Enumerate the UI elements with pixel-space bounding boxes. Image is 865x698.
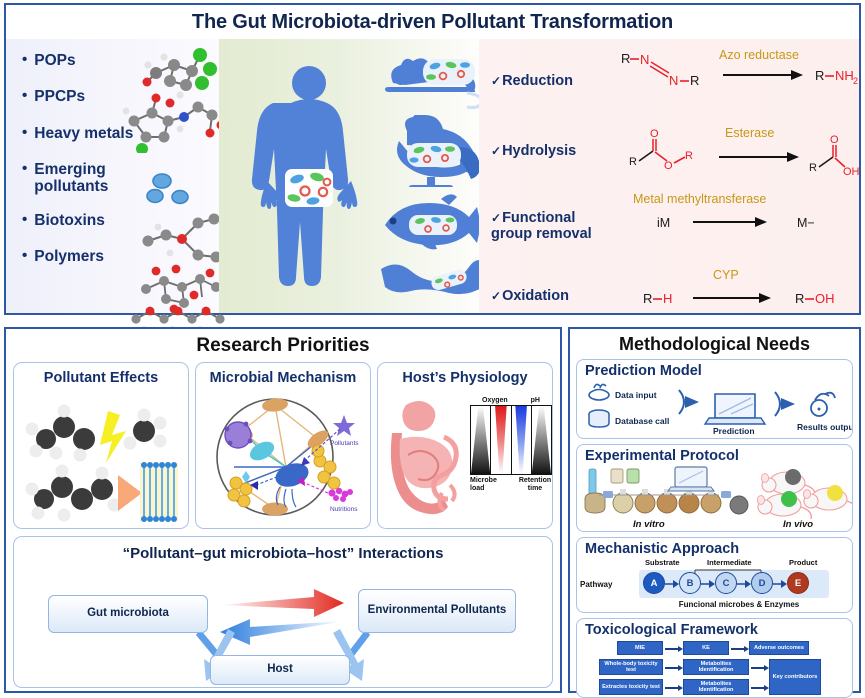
methodological-needs-title: Methodological Needs — [570, 329, 859, 359]
gradient-bar-microbe-load — [471, 406, 490, 474]
gradient-label-ph: pH — [531, 397, 540, 404]
svg-text:Metal methyltransferase: Metal methyltransferase — [633, 192, 766, 206]
card-title: Mechanistic Approach — [577, 538, 852, 557]
research-priorities-cards: Pollutant Effects — [6, 362, 560, 529]
card-toxicological-framework: Toxicological Framework MIE KE Adverse o… — [576, 618, 853, 698]
label-in-vivo: In vivo — [783, 519, 813, 530]
mouse-silhouette — [379, 47, 489, 109]
svg-text:N: N — [669, 73, 678, 88]
tox-box-ke: KE — [683, 641, 729, 655]
reaction-art: Metal methyltransferase iM M− — [615, 187, 859, 265]
svg-text:iM: iM — [657, 216, 670, 230]
label-in-vitro: In vitro — [633, 519, 665, 530]
svg-text:M−: M− — [797, 216, 815, 230]
svg-text:O: O — [830, 134, 839, 146]
reaction-label: ✓Reduction — [491, 73, 619, 89]
bullet-icon: • — [22, 88, 27, 104]
gradient-label-retention-time: Retention time — [518, 477, 552, 493]
card-prediction-model: Prediction Model Data input Database cal… — [576, 359, 853, 439]
tox-box-metabolites-identification-1: Metabolites Identification — [683, 659, 749, 675]
toxicology-flowchart: MIE KE Adverse outcomes Whole-body toxic… — [577, 641, 852, 698]
bullet-icon: • — [22, 52, 27, 68]
card-title: Host’s Physiology — [378, 363, 552, 386]
molecule-damage-membrane-icon — [22, 393, 187, 525]
svg-text:2: 2 — [853, 76, 858, 86]
card-title: Pollutant Effects — [14, 363, 188, 386]
svg-text:NH: NH — [835, 68, 854, 83]
microbe-network-icon: Pollutants Nutritions — [200, 389, 371, 527]
gradient-bar-ph — [512, 406, 531, 474]
check-icon: ✓ — [491, 74, 501, 88]
tox-box-metabolites-identification-2: Metabolites Identification — [683, 679, 749, 695]
pathway-connectors — [639, 566, 839, 600]
metal-ions-icon — [146, 173, 202, 205]
reaction-band: ✓Reduction R N N R — [479, 39, 859, 313]
research-priorities-title: Research Priorities — [6, 329, 560, 362]
host-band — [219, 39, 479, 313]
pathway-node-c: C — [715, 572, 737, 594]
chicken-silhouette — [377, 115, 487, 187]
physiology-gradient-chart: Oxygen pH Microbe load Retent — [470, 397, 552, 493]
gut-anatomy-icon — [384, 393, 474, 521]
pathway-node-b: B — [679, 572, 701, 594]
gradient-label-oxygen: Oxygen — [482, 397, 508, 404]
pollutant-label: POPs — [34, 52, 75, 69]
check-icon: ✓ — [491, 211, 501, 225]
pollutant-label: Polymers — [34, 248, 104, 265]
step-label-database-call: Database call — [615, 416, 669, 426]
research-priorities-panel: Research Priorities Pollutant Effects — [4, 327, 562, 693]
node-host: Host — [210, 655, 350, 685]
tox-box-adverse-outcomes: Adverse outcomes — [749, 641, 809, 655]
top-panel: The Gut Microbiota-driven Pollutant Tran… — [4, 3, 861, 315]
node-gut-microbiota: Gut microbiota — [48, 595, 208, 633]
experimental-setup-icon — [579, 465, 853, 527]
reaction-row-reduction: ✓Reduction R N N R — [479, 47, 859, 115]
svg-text:R: R — [621, 51, 630, 66]
svg-text:OH: OH — [815, 291, 835, 306]
step-label-prediction: Prediction — [713, 426, 755, 436]
reaction-art: R N N R Azo reductase — [619, 47, 859, 115]
gradient-label-microbe-load: Microbe load — [470, 477, 502, 493]
svg-text:●: ● — [817, 406, 821, 413]
step-label-data-input: Data input — [615, 390, 657, 400]
card-title: Prediction Model — [577, 360, 852, 379]
pathway-node-d: D — [751, 572, 773, 594]
reaction-art: R O O R Esterase — [619, 115, 859, 187]
arrow-icon — [751, 667, 765, 669]
reaction-label: ✓Functional group removal — [491, 210, 615, 242]
worm-silhouette — [375, 257, 491, 305]
svg-text:N: N — [640, 52, 649, 67]
arrow-icon — [665, 667, 679, 669]
arrow-icon — [665, 687, 679, 689]
molecule-ppcp-icon — [118, 91, 230, 153]
svg-text:R: R — [685, 150, 693, 162]
svg-text:CYP: CYP — [713, 268, 739, 282]
bullet-icon: • — [22, 125, 27, 141]
svg-text:R: R — [690, 73, 699, 88]
ester-hydrolysis-scheme-icon: R O O R Esterase — [619, 115, 859, 181]
tox-box-whole-body-toxicity-test: Whole-body toxicity test — [599, 659, 663, 675]
cyp-oxidation-scheme-icon: CYP R H R OH — [619, 265, 859, 321]
pollutant-label: PPCPs — [34, 88, 85, 105]
arrow-icon — [665, 648, 679, 650]
card-title: Experimental Protocol — [577, 445, 852, 464]
divider — [511, 406, 512, 474]
arrow-icon — [751, 687, 765, 689]
pollutant-label: Emerging pollutants — [34, 161, 130, 196]
svg-text:R: R — [629, 156, 637, 168]
svg-text:R: R — [795, 291, 804, 306]
tox-box-extractes-toxicity-test: Extractes toxicity test — [599, 679, 663, 695]
figure-root: The Gut Microbiota-driven Pollutant Tran… — [0, 0, 865, 697]
top-panel-body: • POPs • PPCPs • Heavy metals • Emerging… — [6, 39, 859, 313]
methodological-needs-panel: Methodological Needs Prediction Model Da… — [568, 327, 861, 693]
reaction-row-oxidation: ✓Oxidation CYP R H R — [479, 265, 859, 327]
tox-box-key-contributors: Key contributors — [769, 659, 821, 695]
bullet-icon: • — [22, 212, 27, 228]
pathway-diagram: Substrate Intermediate Product Pathway — [577, 558, 852, 613]
bullet-icon: • — [22, 161, 27, 177]
node-environmental-pollutants: Environmental Pollutants — [358, 589, 516, 633]
card-experimental-protocol: Experimental Protocol — [576, 444, 853, 532]
pathway-node-e: E — [787, 572, 809, 594]
card-pollutant-effects: Pollutant Effects — [13, 362, 189, 529]
reaction-row-functional-group-removal: ✓Functional group removal Metal methyltr… — [479, 187, 859, 265]
card-title: Toxicological Framework — [577, 619, 852, 638]
label-pathway: Pathway — [580, 580, 612, 589]
check-icon: ✓ — [491, 289, 501, 303]
tox-box-mie: MIE — [617, 641, 663, 655]
svg-text:R: R — [643, 291, 652, 306]
reaction-label: ✓Hydrolysis — [491, 143, 619, 159]
pollutant-band: • POPs • PPCPs • Heavy metals • Emerging… — [6, 39, 219, 313]
pollutant-label: Biotoxins — [34, 212, 105, 229]
svg-text:O: O — [650, 128, 659, 140]
reaction-list: ✓Reduction R N N R — [479, 39, 859, 313]
svg-text:H: H — [663, 291, 672, 306]
check-icon: ✓ — [491, 144, 501, 158]
divider — [490, 406, 491, 474]
reaction-art: CYP R H R OH — [619, 265, 859, 327]
metal-methylation-scheme-icon: Metal methyltransferase iM M− — [615, 187, 855, 243]
svg-text:O: O — [664, 160, 673, 172]
gradient-bar-retention-time — [532, 406, 551, 474]
nutritions-label: Nutritions — [330, 506, 358, 513]
pathway-node-a: A — [643, 572, 665, 594]
molecule-emerging-icon — [136, 209, 232, 269]
card-title: Microbial Mechanism — [196, 363, 370, 386]
card-microbial-mechanism: Microbial Mechanism — [195, 362, 371, 529]
reaction-row-hydrolysis: ✓Hydrolysis R O O — [479, 115, 859, 187]
svg-text:Azo reductase: Azo reductase — [719, 48, 799, 62]
card-host-physiology: Host’s Physiology Oxygen pH — [377, 362, 553, 529]
svg-text:R: R — [809, 162, 817, 174]
svg-text:OH: OH — [843, 166, 859, 178]
pathway-caption: Funcional microbes & Enzymes — [639, 600, 839, 609]
svg-text:R: R — [815, 68, 824, 83]
figure-title: The Gut Microbiota-driven Pollutant Tran… — [6, 5, 859, 39]
svg-text:Esterase: Esterase — [725, 126, 774, 140]
bullet-icon: • — [22, 248, 27, 264]
human-silhouette — [239, 61, 379, 291]
azo-reduction-scheme-icon: R N N R Azo reductase — [619, 47, 859, 109]
fish-silhouette — [375, 191, 491, 253]
card-mechanistic-approach: Mechanistic Approach Substrate Intermedi… — [576, 537, 853, 613]
interaction-diagram: “Pollutant–gut microbiota–host” Interact… — [13, 536, 553, 688]
pollutants-label: Pollutants — [330, 440, 359, 447]
divider — [531, 406, 532, 474]
step-label-results-output: Results output — [797, 422, 853, 432]
reaction-label: ✓Oxidation — [491, 288, 619, 304]
prediction-model-flow-icon: Data input Database call Prediction ● — [581, 380, 853, 438]
arrow-icon — [731, 648, 745, 650]
gradient-bar-oxygen — [491, 406, 510, 474]
